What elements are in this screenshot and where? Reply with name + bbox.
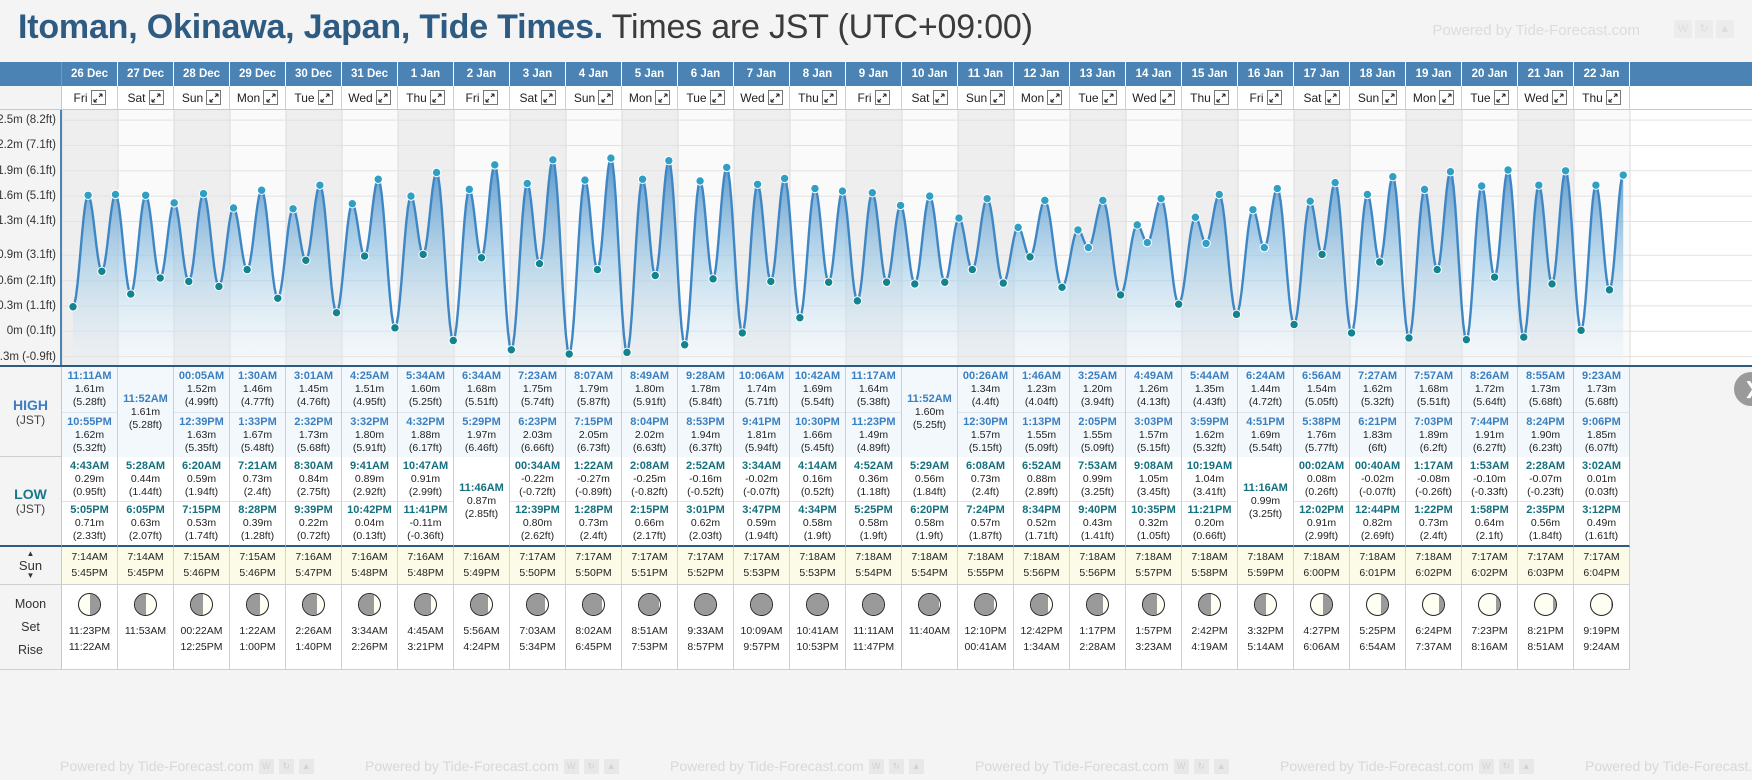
moon-shadow xyxy=(135,594,146,615)
tide-height-metric: 1.44m xyxy=(1251,383,1280,396)
tide-height-feet: (2.89ft) xyxy=(1025,486,1058,499)
tide-height-metric: 1.78m xyxy=(691,383,720,396)
sun-cell: 7:18AM5:54PM xyxy=(846,547,902,585)
expand-day-icon[interactable] xyxy=(1102,90,1117,105)
day-name-label: Mon xyxy=(629,91,652,105)
moon-shadow xyxy=(919,594,939,615)
sun-cell: 7:18AM6:02PM xyxy=(1406,547,1462,585)
date-header-row: 26 Dec27 Dec28 Dec29 Dec30 Dec31 Dec1 Ja… xyxy=(0,62,1752,86)
expand-day-icon[interactable] xyxy=(430,90,445,105)
moon-shadow xyxy=(1031,594,1048,615)
date-header-cell[interactable]: 15 Jan xyxy=(1182,62,1238,86)
date-header-cell[interactable]: 16 Jan xyxy=(1238,62,1294,86)
date-header-cell[interactable]: 27 Dec xyxy=(118,62,174,86)
low-tide-cell: 11:46AM0.87m(2.85ft) xyxy=(454,457,510,547)
low-tide-cell: 00:40AM-0.02m(-0.07ft)12:44PM0.82m(2.69f… xyxy=(1350,457,1406,547)
tide-event: 4:51PM1.69m(5.54ft) xyxy=(1238,412,1293,457)
tide-height-feet: (5.28ft) xyxy=(129,419,162,432)
moon-phase-icon-wrap xyxy=(1254,585,1277,623)
moonrise-time: 1:00PM xyxy=(239,639,275,655)
expand-day-icon[interactable] xyxy=(822,90,837,105)
tide-height-feet: (5.51ft) xyxy=(1417,396,1450,409)
tide-height-feet: (6.46ft) xyxy=(465,442,498,455)
date-header-cell[interactable]: 30 Dec xyxy=(286,62,342,86)
day-name-label: Tue xyxy=(1078,91,1098,105)
expand-day-icon[interactable] xyxy=(318,90,333,105)
tide-height-metric: 1.46m xyxy=(243,383,272,396)
day-header-cell[interactable]: Thu xyxy=(790,86,846,109)
tide-time: 12:44PM xyxy=(1355,504,1400,517)
date-header-cell[interactable]: 14 Jan xyxy=(1126,62,1182,86)
tide-height-feet: (3.94ft) xyxy=(1081,396,1114,409)
date-header-cell[interactable]: 13 Jan xyxy=(1070,62,1126,86)
tide-height-feet: (5.32ft) xyxy=(1361,396,1394,409)
day-header-cell[interactable]: Wed xyxy=(1518,86,1574,109)
tide-time: 7:03PM xyxy=(1414,416,1453,429)
moon-times: 8:21PM8:51AM xyxy=(1527,623,1563,656)
moon-phase-icon xyxy=(302,593,325,616)
tide-time: 10:30PM xyxy=(795,416,840,429)
sunset-time: 6:02PM xyxy=(1471,566,1507,582)
tide-height-feet: (-0.33ft) xyxy=(1471,486,1508,499)
sun-cell: 7:15AM5:46PM xyxy=(174,547,230,585)
tide-height-feet: (-0.82ft) xyxy=(631,486,668,499)
low-tide-cell: 11:16AM0.99m(3.25ft) xyxy=(1238,457,1294,547)
tide-event: 6:23PM2.03m(6.66ft) xyxy=(510,412,565,457)
tide-event: 9:41PM1.81m(5.94ft) xyxy=(734,412,789,457)
moonset-time: 12:10PM xyxy=(964,623,1006,639)
moon-phase-icon xyxy=(190,593,213,616)
tide-time: 12:39PM xyxy=(515,504,560,517)
low-tide-cell: 3:02AM0.01m(0.03ft)3:12PM0.49m(1.61ft) xyxy=(1574,457,1630,547)
tide-event: 7:23AM1.75m(5.74ft) xyxy=(510,367,565,412)
expand-day-icon[interactable] xyxy=(655,90,670,105)
moon-times: 3:34AM2:26PM xyxy=(351,623,387,656)
sunrise-time: 7:18AM xyxy=(855,550,891,566)
tide-height-feet: (2.85ft) xyxy=(465,508,498,521)
moon-shadow xyxy=(1255,594,1266,615)
sun-cell: 7:18AM5:55PM xyxy=(958,547,1014,585)
tide-height-metric: 1.54m xyxy=(1307,383,1336,396)
expand-day-icon[interactable] xyxy=(598,90,613,105)
day-name-label: Thu xyxy=(1190,91,1211,105)
date-header-cell[interactable]: 1 Jan xyxy=(398,62,454,86)
tide-height-metric: 0.91m xyxy=(1307,517,1336,530)
moon-phase-icon xyxy=(358,593,381,616)
expand-day-icon[interactable] xyxy=(1214,90,1229,105)
sunset-time: 6:04PM xyxy=(1583,566,1619,582)
sun-cell: 7:16AM5:49PM xyxy=(454,547,510,585)
expand-day-icon[interactable] xyxy=(875,90,890,105)
moon-cell: 5:25PM6:54AM xyxy=(1350,585,1406,670)
tide-event: 11:17AM1.64m(5.38ft) xyxy=(846,367,901,412)
tide-time: 3:34AM xyxy=(742,460,781,473)
tide-height-metric: 1.61m xyxy=(75,383,104,396)
day-header-cell[interactable]: Tue xyxy=(1462,86,1518,109)
sunrise-time: 7:17AM xyxy=(743,550,779,566)
tide-height-metric: -0.02m xyxy=(1361,473,1394,486)
tide-height-metric: 1.89m xyxy=(1419,429,1448,442)
day-header-cell[interactable]: Wed xyxy=(342,86,398,109)
sun-cell: 7:17AM5:53PM xyxy=(734,547,790,585)
low-tide-cell: 2:08AM-0.25m(-0.82ft)2:15PM0.66m(2.17ft) xyxy=(622,457,678,547)
tide-event: 5:25PM0.58m(1.9ft) xyxy=(846,501,901,545)
moon-phase-icon xyxy=(1254,593,1277,616)
tide-event: 00:34AM-0.22m(-0.72ft) xyxy=(510,457,565,501)
date-header-corner xyxy=(0,62,62,86)
day-header-cell[interactable]: Mon xyxy=(230,86,286,109)
low-tide-cell: 2:52AM-0.16m(-0.52ft)3:01PM0.62m(2.03ft) xyxy=(678,457,734,547)
day-header-cell[interactable]: Thu xyxy=(398,86,454,109)
day-header-cell[interactable]: Sun xyxy=(1350,86,1406,109)
tide-height-metric: 0.87m xyxy=(467,495,496,508)
day-header-cell[interactable]: Fri xyxy=(62,86,118,109)
high-tide-cell: 6:24AM1.44m(4.72ft)4:51PM1.69m(5.54ft) xyxy=(1238,367,1294,457)
tide-height-feet: (5.68ft) xyxy=(297,442,330,455)
date-header-cell[interactable]: 9 Jan xyxy=(846,62,902,86)
low-tide-cell: 10:47AM0.91m(2.99ft)11:41PM-0.11m(-0.36f… xyxy=(398,457,454,547)
tide-event: 10:30PM1.66m(5.45ft) xyxy=(790,412,845,457)
day-header-cell[interactable]: Mon xyxy=(622,86,678,109)
tide-height-metric: 1.57m xyxy=(971,429,1000,442)
sun-cell: 7:17AM5:50PM xyxy=(510,547,566,585)
day-name-label: Mon xyxy=(1413,91,1436,105)
expand-day-icon[interactable] xyxy=(91,90,106,105)
refresh-icon: ↻ xyxy=(279,759,294,774)
day-header-cell[interactable]: Thu xyxy=(1182,86,1238,109)
day-header-cell[interactable]: Sat xyxy=(902,86,958,109)
y-axis-tick-label: 1.6m (5.1ft) xyxy=(0,190,56,202)
tide-forecast-page: Itoman, Okinawa, Japan, Tide Times. Time… xyxy=(0,0,1752,780)
moon-times: 3:32PM5:14AM xyxy=(1247,623,1283,656)
moon-shadow xyxy=(90,594,100,615)
tide-event: 5:34AM1.60m(5.25ft) xyxy=(398,367,453,412)
tide-height-feet: (1.94ft) xyxy=(745,530,778,543)
tide-time: 11:21PM xyxy=(1187,504,1231,517)
moon-cell: 8:02AM6:45PM xyxy=(566,585,622,670)
sunset-time: 5:58PM xyxy=(1191,566,1227,582)
tide-time: 12:02PM xyxy=(1299,504,1344,517)
tide-height-feet: (-0.23ft) xyxy=(1527,486,1564,499)
tide-height-feet: (4.04ft) xyxy=(1025,396,1058,409)
moon-phase-icon xyxy=(694,593,717,616)
day-header-cell[interactable]: Tue xyxy=(1070,86,1126,109)
day-name-label: Thu xyxy=(798,91,819,105)
date-header-cell[interactable]: 10 Jan xyxy=(902,62,958,86)
tide-height-metric: -0.02m xyxy=(745,473,778,486)
moonrise-time: 7:53PM xyxy=(631,639,667,655)
date-header-cell[interactable]: 12 Jan xyxy=(1014,62,1070,86)
high-tide-cell: 6:34AM1.68m(5.51ft)5:29PM1.97m(6.46ft) xyxy=(454,367,510,457)
tide-event: 5:29AM0.56m(1.84ft) xyxy=(902,457,957,501)
day-header-cell[interactable]: Mon xyxy=(1406,86,1462,109)
windy-icon[interactable]: W xyxy=(1674,20,1692,38)
high-tide-cell: 11:17AM1.64m(5.38ft)11:23PM1.49m(4.89ft) xyxy=(846,367,902,457)
expand-day-icon[interactable] xyxy=(768,90,783,105)
tide-height-metric: 1.88m xyxy=(411,429,440,442)
tide-event: 1:30AM1.46m(4.77ft) xyxy=(230,367,285,412)
tide-height-metric: 1.60m xyxy=(915,406,944,419)
moon-shadow xyxy=(1087,594,1103,615)
high-tide-cell: 10:42AM1.69m(5.54ft)10:30PM1.66m(5.45ft) xyxy=(790,367,846,457)
date-header-cell[interactable]: 22 Jan xyxy=(1574,62,1630,86)
date-header-cell[interactable]: 2 Jan xyxy=(454,62,510,86)
tide-time: 11:46AM xyxy=(459,482,504,495)
high-tide-cell: 00:05AM1.52m(4.99ft)12:39PM1.63m(5.35ft) xyxy=(174,367,230,457)
expand-day-icon[interactable] xyxy=(990,90,1005,105)
day-header-cell[interactable]: Sat xyxy=(1294,86,1350,109)
y-axis-tick-label: 1.9m (6.1ft) xyxy=(0,165,56,177)
date-header-cell[interactable]: 21 Jan xyxy=(1518,62,1574,86)
tide-height-feet: (1.61ft) xyxy=(1585,530,1618,543)
expand-day-icon[interactable] xyxy=(376,90,391,105)
date-header-cell[interactable]: 8 Jan xyxy=(790,62,846,86)
day-header-cell[interactable]: Tue xyxy=(678,86,734,109)
date-header-cell[interactable]: 17 Jan xyxy=(1294,62,1350,86)
high-tide-cell: 6:56AM1.54m(5.05ft)5:38PM1.76m(5.77ft) xyxy=(1294,367,1350,457)
tide-time: 5:34AM xyxy=(406,370,445,383)
tide-event: 9:23AM1.73m(5.68ft) xyxy=(1574,367,1629,412)
tide-height-metric: 0.36m xyxy=(859,473,888,486)
moonset-time: 11:23PM xyxy=(69,623,110,639)
tide-time: 5:44AM xyxy=(1190,370,1229,383)
tide-time: 9:06PM xyxy=(1582,416,1621,429)
tide-height-feet: (5.25ft) xyxy=(409,396,442,409)
day-header-cell[interactable]: Sat xyxy=(510,86,566,109)
moon-phase-icon-wrap xyxy=(246,585,269,623)
moon-phase-icon xyxy=(1422,593,1445,616)
moon-shadow xyxy=(1199,594,1211,615)
tide-time: 6:20AM xyxy=(182,460,221,473)
moon-cell: 1:22AM1:00PM xyxy=(230,585,286,670)
sun-cell: 7:18AM5:59PM xyxy=(1238,547,1294,585)
moonrise-time: 1:34AM xyxy=(1023,639,1059,655)
date-header-cell[interactable]: 5 Jan xyxy=(622,62,678,86)
expand-day-icon[interactable] xyxy=(1325,90,1340,105)
date-header-cell[interactable]: 3 Jan xyxy=(510,62,566,86)
high-label-tz: (JST) xyxy=(16,413,45,427)
footer-watermark-text: Powered by Tide-Forecast.com xyxy=(670,758,864,774)
moon-shadow xyxy=(695,594,716,615)
alert-icon: ▲ xyxy=(604,759,619,774)
high-tide-cell: 11:11AM1.61m(5.28ft)10:55PM1.62m(5.32ft) xyxy=(62,367,118,457)
tide-event: 11:41PM-0.11m(-0.36ft) xyxy=(398,501,453,545)
day-header-cell[interactable]: Sat xyxy=(118,86,174,109)
tide-time: 9:23AM xyxy=(1582,370,1621,383)
tide-height-metric: 1.55m xyxy=(1027,429,1056,442)
low-tide-cell: 4:52AM0.36m(1.18ft)5:25PM0.58m(1.9ft) xyxy=(846,457,902,547)
date-header-cell[interactable]: 20 Jan xyxy=(1462,62,1518,86)
moon-shadow xyxy=(975,594,994,615)
tide-height-metric: 1.79m xyxy=(579,383,608,396)
refresh-icon[interactable]: ↻ xyxy=(1695,20,1713,38)
high-tide-cell: 9:28AM1.78m(5.84ft)8:53PM1.94m(6.37ft) xyxy=(678,367,734,457)
tide-height-metric: 1.74m xyxy=(747,383,776,396)
refresh-icon: ↻ xyxy=(584,759,599,774)
tide-event: 12:44PM0.82m(2.69ft) xyxy=(1350,501,1405,545)
date-header-cell[interactable]: 11 Jan xyxy=(958,62,1014,86)
sunset-time: 5:50PM xyxy=(575,566,611,582)
expand-day-icon[interactable] xyxy=(933,90,948,105)
tide-time: 5:28AM xyxy=(126,460,165,473)
sun-cell: 7:18AM5:56PM xyxy=(1070,547,1126,585)
tide-time: 12:30PM xyxy=(963,416,1008,429)
expand-day-icon[interactable] xyxy=(1267,90,1282,105)
moon-phase-icon-wrap xyxy=(638,585,661,623)
tide-height-metric: 0.22m xyxy=(299,517,328,530)
tide-time: 2:28AM xyxy=(1526,460,1565,473)
expand-day-icon[interactable] xyxy=(1160,90,1175,105)
moon-times: 2:42PM4:19AM xyxy=(1191,623,1227,656)
day-header-cell[interactable]: Sun xyxy=(566,86,622,109)
date-header-cell[interactable]: 29 Dec xyxy=(230,62,286,86)
tide-event: 6:08AM0.73m(2.4ft) xyxy=(958,457,1013,501)
expand-day-icon[interactable] xyxy=(263,90,278,105)
tide-height-feet: (5.84ft) xyxy=(689,396,722,409)
expand-day-icon[interactable] xyxy=(541,90,556,105)
day-header-cell[interactable]: Fri xyxy=(454,86,510,109)
tide-event: 7:15PM0.53m(1.74ft) xyxy=(174,501,229,545)
alert-icon[interactable]: ▲ xyxy=(1716,20,1734,38)
expand-day-icon[interactable] xyxy=(1382,90,1397,105)
expand-day-icon[interactable] xyxy=(1552,90,1567,105)
tide-event: 9:08AM1.05m(3.45ft) xyxy=(1126,457,1181,501)
tide-height-feet: (4.13ft) xyxy=(1137,396,1170,409)
day-header-cell[interactable]: Fri xyxy=(1238,86,1294,109)
low-tide-cell: 1:17AM-0.08m(-0.26ft)1:22PM0.73m(2.4ft) xyxy=(1406,457,1462,547)
date-header-cell[interactable]: 19 Jan xyxy=(1406,62,1462,86)
expand-day-icon[interactable] xyxy=(1494,90,1509,105)
day-header-cell[interactable]: Mon xyxy=(1014,86,1070,109)
tide-height-feet: (2.4ft) xyxy=(580,530,607,543)
expand-day-icon[interactable] xyxy=(483,90,498,105)
date-header-cell[interactable]: 6 Jan xyxy=(678,62,734,86)
date-header-cell[interactable]: 7 Jan xyxy=(734,62,790,86)
tide-time: 3:01AM xyxy=(294,370,333,383)
tide-time: 12:39PM xyxy=(179,416,224,429)
moon-cell: 2:26AM1:40PM xyxy=(286,585,342,670)
moon-times: 9:33AM8:57PM xyxy=(687,623,723,656)
refresh-icon: ↻ xyxy=(1194,759,1209,774)
expand-day-icon[interactable] xyxy=(1606,90,1621,105)
tide-height-metric: 0.16m xyxy=(803,473,832,486)
expand-day-icon[interactable] xyxy=(206,90,221,105)
alert-icon: ▲ xyxy=(1519,759,1534,774)
moonrise-time: 11:53AM xyxy=(125,623,166,639)
tide-time: 3:01PM xyxy=(686,504,725,517)
tide-event: 4:32PM1.88m(6.17ft) xyxy=(398,412,453,457)
moon-cell: 1:57PM3:23AM xyxy=(1126,585,1182,670)
tide-height-metric: 1.45m xyxy=(299,383,328,396)
tide-height-metric: 1.05m xyxy=(1139,473,1168,486)
moon-shadow xyxy=(863,594,884,615)
day-header-cell[interactable]: Wed xyxy=(734,86,790,109)
tide-event: 7:21AM0.73m(2.4ft) xyxy=(230,457,285,501)
tide-time: 6:20PM xyxy=(910,504,949,517)
high-tide-cell: 5:44AM1.35m(4.43ft)3:59PM1.62m(5.32ft) xyxy=(1182,367,1238,457)
sunset-time: 5:51PM xyxy=(631,566,667,582)
sunrise-time: 7:18AM xyxy=(1303,550,1339,566)
tide-height-metric: 0.56m xyxy=(1531,517,1560,530)
tide-height-metric: 0.71m xyxy=(75,517,104,530)
moon-phase-icon-wrap xyxy=(1422,585,1445,623)
high-tide-cell: 3:25AM1.20m(3.94ft)2:05PM1.55m(5.09ft) xyxy=(1070,367,1126,457)
moon-phase-icon-wrap xyxy=(526,585,549,623)
moonrise-time: 3:23AM xyxy=(1135,639,1171,655)
moonset-time: 7:23PM xyxy=(1471,623,1507,639)
day-header-cell[interactable]: Sun xyxy=(958,86,1014,109)
tide-height-metric: 1.62m xyxy=(1363,383,1392,396)
tide-time: 1:22AM xyxy=(574,460,613,473)
moon-shadow xyxy=(527,594,545,615)
tide-height-feet: (0.66ft) xyxy=(1193,530,1226,543)
tide-event: 1:28PM0.73m(2.4ft) xyxy=(566,501,621,545)
low-tide-cell: 3:34AM-0.02m(-0.07ft)3:47PM0.59m(1.94ft) xyxy=(734,457,790,547)
high-tide-cell: 8:07AM1.79m(5.87ft)7:15PM2.05m(6.73ft) xyxy=(566,367,622,457)
expand-day-icon[interactable] xyxy=(1439,90,1454,105)
day-header-cell[interactable]: Wed xyxy=(1126,86,1182,109)
tide-event: 8:24PM1.90m(6.23ft) xyxy=(1518,412,1573,457)
expand-day-icon[interactable] xyxy=(1047,90,1062,105)
tide-time: 1:53AM xyxy=(1470,460,1509,473)
tide-height-metric: 0.08m xyxy=(1307,473,1336,486)
low-tide-cell: 4:43AM0.29m(0.95ft)5:05PM0.71m(2.33ft) xyxy=(62,457,118,547)
tide-height-feet: (-0.26ft) xyxy=(1415,486,1452,499)
tide-time: 7:15PM xyxy=(574,416,613,429)
day-header-cell[interactable]: Thu xyxy=(1574,86,1630,109)
tide-height-metric: 1.80m xyxy=(355,429,384,442)
tide-event: 8:53PM1.94m(6.37ft) xyxy=(678,412,733,457)
tide-height-metric: 0.73m xyxy=(1419,517,1448,530)
day-header-cell[interactable]: Fri xyxy=(846,86,902,109)
moon-shadow xyxy=(359,594,374,615)
tide-event: 1:13PM1.55m(5.09ft) xyxy=(1014,412,1069,457)
tide-time: 10:55PM xyxy=(67,416,112,429)
sunrise-time: 7:18AM xyxy=(1359,550,1395,566)
tide-time: 2:08AM xyxy=(630,460,669,473)
moon-times: 1:17PM2:28AM xyxy=(1079,623,1115,656)
tide-event: 9:39PM0.22m(0.72ft) xyxy=(286,501,341,545)
tide-height-feet: (5.09ft) xyxy=(1025,442,1058,455)
tide-time: 6:34AM xyxy=(462,370,501,383)
high-tide-cell: 3:01AM1.45m(4.76ft)2:32PM1.73m(5.68ft) xyxy=(286,367,342,457)
moon-phase-icon-wrap xyxy=(918,585,941,623)
date-header-cell[interactable]: 31 Dec xyxy=(342,62,398,86)
tide-time: 3:12PM xyxy=(1582,504,1621,517)
date-header-cell[interactable]: 28 Dec xyxy=(174,62,230,86)
tide-event: 9:06PM1.85m(6.07ft) xyxy=(1574,412,1629,457)
moonset-time: 1:57PM xyxy=(1135,623,1171,639)
date-header-cell[interactable]: 4 Jan xyxy=(566,62,622,86)
expand-day-icon[interactable] xyxy=(149,90,164,105)
tide-height-feet: (2.4ft) xyxy=(244,486,271,499)
sunrise-time: 7:17AM xyxy=(1527,550,1563,566)
expand-day-icon[interactable] xyxy=(710,90,725,105)
date-header-cell[interactable]: 18 Jan xyxy=(1350,62,1406,86)
day-header-cell[interactable]: Sun xyxy=(174,86,230,109)
moon-cell: 8:21PM8:51AM xyxy=(1518,585,1574,670)
tide-time: 3:03PM xyxy=(1134,416,1173,429)
tide-event: 3:02AM0.01m(0.03ft) xyxy=(1574,457,1629,501)
tide-event: 00:26AM1.34m(4.4ft) xyxy=(958,367,1013,412)
day-header-cell[interactable]: Tue xyxy=(286,86,342,109)
tide-event: 7:57AM1.68m(5.51ft) xyxy=(1406,367,1461,412)
low-tide-cell: 4:14AM0.16m(0.52ft)4:34PM0.58m(1.9ft) xyxy=(790,457,846,547)
date-header-cell[interactable]: 26 Dec xyxy=(62,62,118,86)
tide-height-feet: (-0.89ft) xyxy=(575,486,612,499)
moon-phase-icon xyxy=(806,593,829,616)
day-name-label: Sat xyxy=(911,91,929,105)
